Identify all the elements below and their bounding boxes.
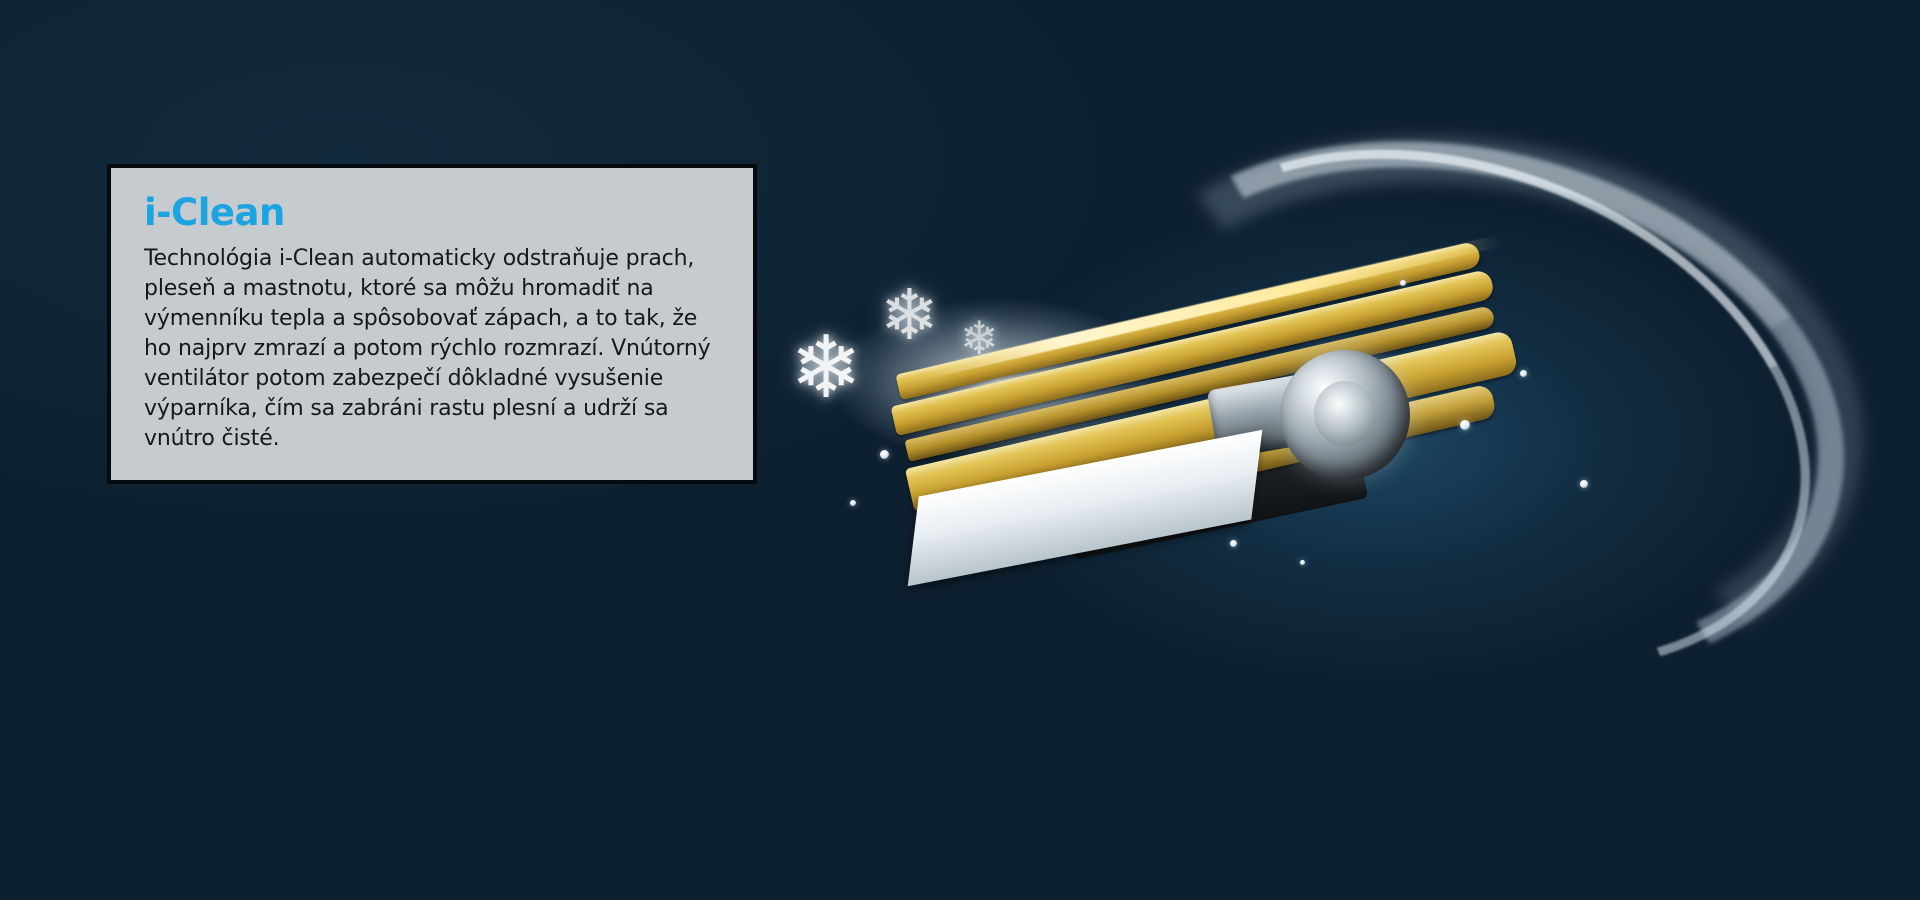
fan-motor <box>1280 350 1410 480</box>
info-panel: i-Clean Technológia i-Clean automaticky … <box>107 164 757 484</box>
water-droplet <box>1520 370 1527 377</box>
water-droplet <box>880 450 889 459</box>
water-droplet <box>1400 280 1406 286</box>
product-illustration: ❄ ❄ ❄ <box>760 120 1920 780</box>
water-droplet <box>1580 480 1588 488</box>
water-droplet <box>1300 560 1305 565</box>
panel-title: i-Clean <box>144 194 723 233</box>
water-droplet <box>850 500 856 506</box>
snowflake-icon: ❄ <box>790 325 862 411</box>
water-droplet <box>1460 420 1470 430</box>
snowflake-icon: ❄ <box>880 280 939 350</box>
promo-banner: ❄ ❄ ❄ i-Clean Technoló <box>0 0 1920 900</box>
panel-body-text: Technológia i-Clean automaticky odstraňu… <box>144 244 723 454</box>
water-droplet <box>1230 540 1237 547</box>
